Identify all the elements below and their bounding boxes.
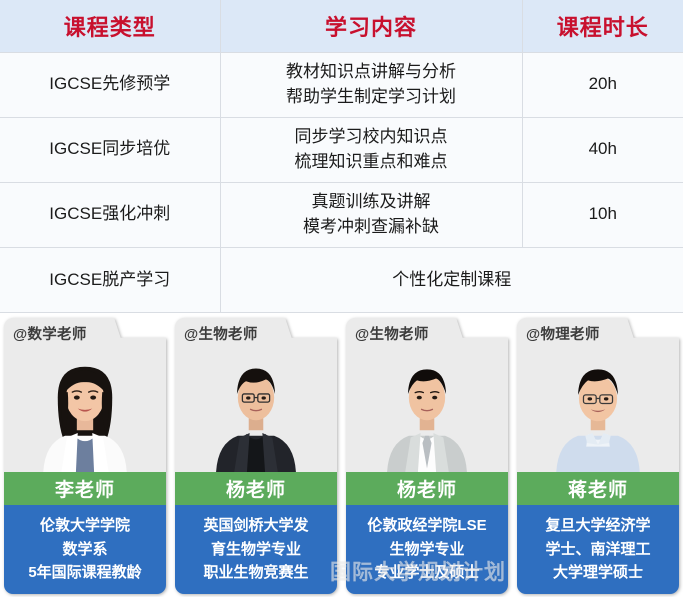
teacher-card[interactable]: @物理老师 xyxy=(517,318,679,594)
cell-course-hours: 20h xyxy=(522,52,683,117)
teacher-info-line: 育生物学专业 xyxy=(211,538,301,562)
teacher-subject-label: @数学老师 xyxy=(13,323,87,344)
teacher-info-line: 英国剑桥大学发 xyxy=(203,514,308,538)
table-row: IGCSE先修预学 教材知识点讲解与分析 帮助学生制定学习计划 20h xyxy=(0,52,683,117)
teacher-name: 杨老师 xyxy=(346,472,508,505)
teacher-name: 杨老师 xyxy=(175,472,337,505)
teacher-info-line: 学士、南洋理工 xyxy=(545,538,650,562)
content-line: 个性化定制课程 xyxy=(221,268,683,293)
table-header-row: 课程类型 学习内容 课程时长 xyxy=(0,0,683,52)
content-line: 教材知识点讲解与分析 xyxy=(221,60,522,85)
teacher-info-line: 5年国际课程教龄 xyxy=(28,561,141,585)
content-line: 同步学习校内知识点 xyxy=(221,125,522,150)
teacher-info: 伦敦政经学院LSE 生物学专业 专业学士及硕士 xyxy=(346,505,508,594)
content-line: 梳理知识重点和难点 xyxy=(221,150,522,175)
table-row: IGCSE脱产学习 个性化定制课程 xyxy=(0,247,683,312)
teacher-card-tab: @物理老师 xyxy=(517,318,679,354)
content-line: 模考冲刺查漏补缺 xyxy=(221,215,522,240)
teacher-info: 英国剑桥大学发 育生物学专业 职业生物竞赛生 xyxy=(175,505,337,594)
course-table: 课程类型 学习内容 课程时长 IGCSE先修预学 教材知识点讲解与分析 帮助学生… xyxy=(0,0,683,313)
cell-course-hours: 10h xyxy=(522,182,683,247)
cell-course-type: IGCSE先修预学 xyxy=(0,52,220,117)
teacher-portrait-icon xyxy=(4,354,166,472)
teacher-portrait-icon xyxy=(175,354,337,472)
teacher-card-list: @数学老师 xyxy=(0,318,683,597)
teacher-card-tab: @生物老师 xyxy=(346,318,508,354)
teacher-info-line: 伦敦政经学院LSE xyxy=(367,514,486,538)
content-line: 真题训练及讲解 xyxy=(221,190,522,215)
cell-course-content: 真题训练及讲解 模考冲刺查漏补缺 xyxy=(220,182,522,247)
cell-course-type: IGCSE同步培优 xyxy=(0,117,220,182)
teacher-card[interactable]: @生物老师 xyxy=(175,318,337,594)
teacher-photo xyxy=(517,354,679,472)
teacher-info-line: 复旦大学经济学 xyxy=(545,514,650,538)
teacher-portrait-icon xyxy=(517,354,679,472)
teacher-photo xyxy=(4,354,166,472)
teacher-info-line: 职业生物竞赛生 xyxy=(203,561,308,585)
table-row: IGCSE同步培优 同步学习校内知识点 梳理知识重点和难点 40h xyxy=(0,117,683,182)
teacher-card-tab: @数学老师 xyxy=(4,318,166,354)
teacher-info-line: 数学系 xyxy=(62,538,107,562)
teacher-name: 李老师 xyxy=(4,472,166,505)
column-header-course-hours: 课程时长 xyxy=(522,0,683,52)
cell-course-type: IGCSE脱产学习 xyxy=(0,247,220,312)
teacher-card-tab: @生物老师 xyxy=(175,318,337,354)
teacher-card[interactable]: @生物老师 xyxy=(346,318,508,594)
cell-course-hours: 40h xyxy=(522,117,683,182)
teacher-photo xyxy=(346,354,508,472)
cell-course-type: IGCSE强化冲刺 xyxy=(0,182,220,247)
column-header-course-type: 课程类型 xyxy=(0,0,220,52)
teacher-info: 伦敦大学学院 数学系 5年国际课程教龄 xyxy=(4,505,166,594)
teacher-card[interactable]: @数学老师 xyxy=(4,318,166,594)
teacher-photo xyxy=(175,354,337,472)
cell-course-content-merged: 个性化定制课程 xyxy=(220,247,683,312)
cell-course-content: 教材知识点讲解与分析 帮助学生制定学习计划 xyxy=(220,52,522,117)
teacher-info: 复旦大学经济学 学士、南洋理工 大学理学硕士 xyxy=(517,505,679,594)
page-root: 课程类型 学习内容 课程时长 IGCSE先修预学 教材知识点讲解与分析 帮助学生… xyxy=(0,0,683,597)
teacher-info-line: 生物学专业 xyxy=(389,538,464,562)
teacher-name: 蒋老师 xyxy=(517,472,679,505)
content-line: 帮助学生制定学习计划 xyxy=(221,85,522,110)
teacher-info-line: 伦敦大学学院 xyxy=(40,514,130,538)
table-body: IGCSE先修预学 教材知识点讲解与分析 帮助学生制定学习计划 20h IGCS… xyxy=(0,52,683,313)
teacher-subject-label: @生物老师 xyxy=(355,323,429,344)
teacher-subject-label: @物理老师 xyxy=(526,323,600,344)
teacher-subject-label: @生物老师 xyxy=(184,323,258,344)
cell-course-content: 同步学习校内知识点 梳理知识重点和难点 xyxy=(220,117,522,182)
teacher-portrait-icon xyxy=(346,354,508,472)
teacher-info-line: 大学理学硕士 xyxy=(553,561,643,585)
teacher-info-line: 专业学士及硕士 xyxy=(374,561,479,585)
table-row: IGCSE强化冲刺 真题训练及讲解 模考冲刺查漏补缺 10h xyxy=(0,182,683,247)
column-header-course-content: 学习内容 xyxy=(220,0,522,52)
